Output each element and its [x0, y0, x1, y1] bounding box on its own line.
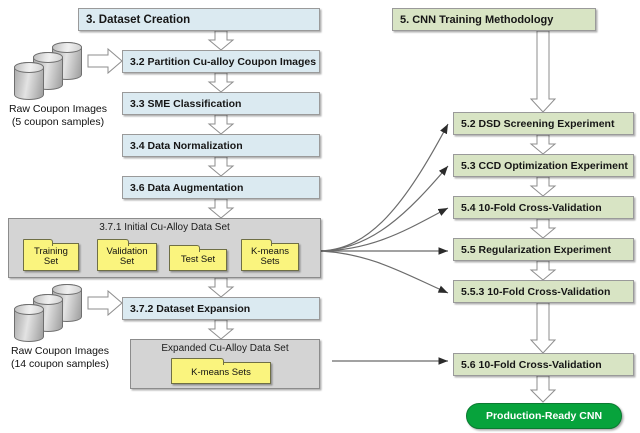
left-header-label: 3. Dataset Creation [79, 14, 190, 26]
step-3-6-box: 3.6 Data Augmentation [122, 176, 320, 199]
raw-coupon-images-source-1 [10, 42, 92, 102]
step-5-6-box: 5.6 10-Fold Cross-Validation [453, 353, 634, 376]
step-3-7-2-label: 3.7.2 Dataset Expansion [123, 303, 250, 315]
raw-coupon-images-caption-1: Raw Coupon Images (5 coupon samples) [0, 103, 116, 129]
folder-kmeans-sets: K-means Sets [241, 243, 299, 271]
step-5-4-label: 5.4 10-Fold Cross-Validation [454, 202, 602, 214]
step-3-4-box: 3.4 Data Normalization [122, 134, 320, 157]
step-5-2-box: 5.2 DSD Screening Experiment [453, 112, 634, 135]
folder-training-set: Training Set [23, 243, 79, 271]
step-3-3-label: 3.3 SME Classification [123, 98, 241, 110]
raw-coupon-caption-1-line1: Raw Coupon Images [9, 103, 107, 115]
raw-coupon-images-source-2 [10, 284, 92, 344]
folder-test-set: Test Set [169, 249, 227, 271]
step-3-6-label: 3.6 Data Augmentation [123, 182, 243, 194]
step-5-2-label: 5.2 DSD Screening Experiment [454, 118, 614, 130]
folder-kmeans-sets-line2: Sets [260, 256, 279, 267]
flowchart-canvas: 3. Dataset Creation 3.2 Partition Cu-all… [0, 0, 640, 433]
database-cylinder-icon [14, 304, 44, 342]
raw-coupon-caption-1-line2: (5 coupon samples) [12, 116, 104, 128]
raw-coupon-caption-2-line2: (14 coupon samples) [11, 358, 109, 370]
production-ready-cnn-label: Production-Ready CNN [486, 410, 602, 422]
step-3-3-box: 3.3 SME Classification [122, 92, 320, 115]
right-header-label: 5. CNN Training Methodology [393, 14, 553, 26]
step-5-3-label: 5.3 CCD Optimization Experiment [454, 160, 628, 172]
folder-validation-set: Validation Set [97, 243, 157, 271]
folder-expanded-kmeans-sets-line1: K-means Sets [191, 368, 251, 378]
raw-coupon-images-caption-2: Raw Coupon Images (14 coupon samples) [0, 345, 120, 371]
step-5-3-box: 5.3 CCD Optimization Experiment [453, 154, 634, 177]
initial-dataset-panel: 3.7.1 Initial Cu-Alloy Data Set Training… [8, 218, 321, 278]
production-ready-cnn-terminator: Production-Ready CNN [466, 403, 622, 429]
step-5-6-label: 5.6 10-Fold Cross-Validation [454, 359, 602, 371]
folder-validation-set-line2: Set [120, 256, 134, 267]
folder-expanded-kmeans-sets: K-means Sets [171, 362, 271, 384]
step-5-5-label: 5.5 Regularization Experiment [454, 244, 611, 256]
folder-training-set-line2: Set [44, 256, 58, 267]
step-5-5-box: 5.5 Regularization Experiment [453, 238, 634, 261]
database-cylinder-icon [14, 62, 44, 100]
step-5-5-3-box: 5.5.3 10-Fold Cross-Validation [453, 280, 634, 303]
step-5-4-box: 5.4 10-Fold Cross-Validation [453, 196, 634, 219]
right-header-box: 5. CNN Training Methodology [392, 8, 596, 31]
initial-dataset-title: 3.7.1 Initial Cu-Alloy Data Set [9, 222, 320, 233]
step-3-7-2-box: 3.7.2 Dataset Expansion [122, 297, 320, 320]
step-3-4-label: 3.4 Data Normalization [123, 140, 243, 152]
dataset-to-experiments-links [321, 124, 448, 293]
step-3-2-box: 3.2 Partition Cu-alloy Coupon Images [122, 50, 320, 73]
expanded-dataset-title: Expanded Cu-Alloy Data Set [131, 343, 319, 354]
step-5-5-3-label: 5.5.3 10-Fold Cross-Validation [454, 286, 610, 298]
expanded-dataset-panel: Expanded Cu-Alloy Data Set K-means Sets [130, 339, 320, 389]
raw-coupon-caption-2-line1: Raw Coupon Images [11, 345, 109, 357]
folder-test-set-line1: Test Set [181, 255, 215, 265]
left-header-box: 3. Dataset Creation [78, 8, 320, 31]
step-3-2-label: 3.2 Partition Cu-alloy Coupon Images [123, 56, 316, 68]
